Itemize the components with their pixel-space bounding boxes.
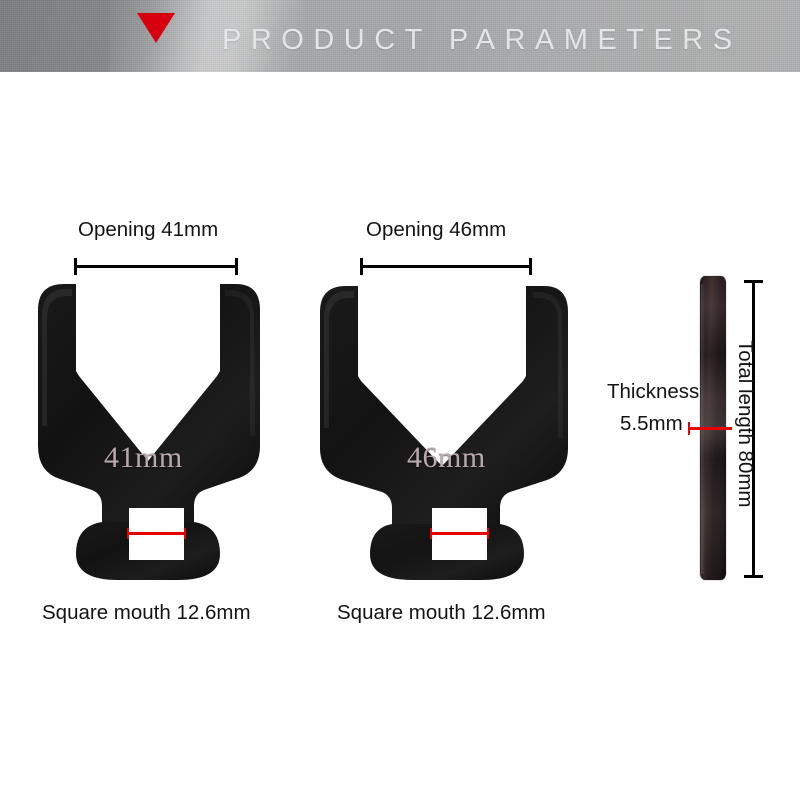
opening-label-46: Opening 46mm: [366, 218, 506, 242]
thickness-label-line2: 5.5mm: [620, 412, 683, 436]
page-header-banner: PRODUCT PARAMETERS: [0, 0, 800, 72]
thickness-label-line1: Thickness: [607, 380, 699, 404]
total-length-label: Total length 80mm: [733, 340, 757, 508]
square-mouth-measure-line-46: [430, 532, 489, 535]
square-mouth-label-41: Square mouth 12.6mm: [42, 601, 251, 625]
engraved-size-46: 46mm: [407, 441, 486, 475]
opening-dimension-line-41: [74, 265, 238, 268]
down-triangle-icon: [137, 13, 175, 43]
square-mouth-measure-line-41: [127, 532, 186, 535]
square-mouth-label-46: Square mouth 12.6mm: [337, 601, 546, 625]
page-title: PRODUCT PARAMETERS: [222, 24, 742, 57]
engraved-size-41: 41mm: [104, 441, 183, 475]
opening-label-41: Opening 41mm: [78, 218, 218, 242]
opening-dimension-line-46: [360, 265, 532, 268]
thickness-measure-line: [688, 427, 732, 430]
